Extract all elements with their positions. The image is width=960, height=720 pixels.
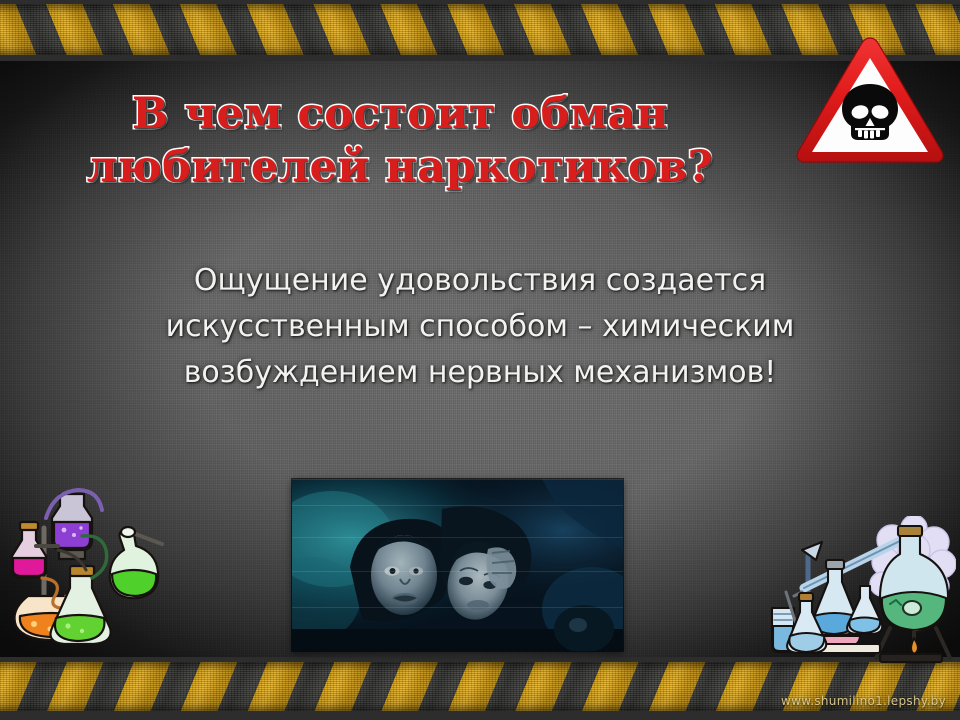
distillation-apparatus-right-icon xyxy=(764,516,956,666)
slide-canvas: В чем состоит обман любителей наркотиков… xyxy=(0,0,960,720)
slide-title: В чем состоит обман любителей наркотиков… xyxy=(40,88,760,194)
center-photo xyxy=(292,479,623,651)
slide-body-text: Ощущение удовольствия создается искусств… xyxy=(70,258,890,396)
chemistry-flasks-left-icon xyxy=(6,484,192,660)
bottom-edge-strip xyxy=(0,711,960,720)
skull-warning-triangle-icon xyxy=(792,32,948,168)
watermark-url: www.shumilino1.lepshy.by xyxy=(781,694,946,708)
